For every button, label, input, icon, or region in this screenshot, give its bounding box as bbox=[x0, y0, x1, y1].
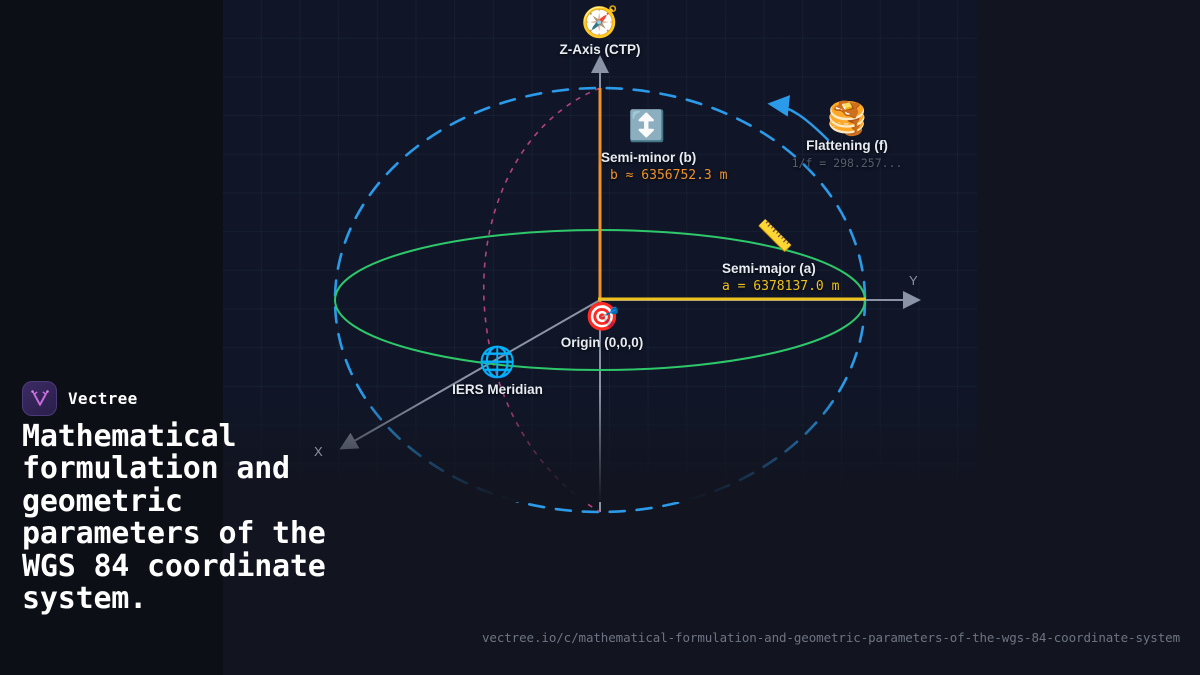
flattening-label: Flattening (f) bbox=[752, 138, 942, 153]
prime-meridian-arc-curve bbox=[484, 88, 600, 512]
semi-minor-value: b ≈ 6356752.3 m bbox=[610, 168, 727, 183]
globe-icon: 🌐 bbox=[440, 348, 555, 378]
footer-url: vectree.io/c/mathematical-formulation-an… bbox=[482, 630, 1180, 645]
vectree-logo-icon bbox=[22, 381, 57, 416]
ruler-icon: 📏 bbox=[756, 222, 839, 252]
annotation-semi-minor: ↕️ Semi-minor (b) b ≈ 6356752.3 m bbox=[601, 112, 727, 183]
compass-icon: 🧭 bbox=[500, 8, 700, 38]
semi-major-value: a = 6378137.0 m bbox=[722, 279, 839, 294]
pancakes-icon: 🥞 bbox=[752, 102, 942, 134]
annotation-flattening: 🥞 Flattening (f) 1/f = 298.257... bbox=[752, 102, 942, 170]
annotation-iers-meridian: 🌐 IERS Meridian bbox=[440, 348, 555, 397]
semi-minor-label: Semi-minor (b) bbox=[601, 150, 727, 165]
slide-root: 🧭 Z-Axis (CTP) ↕️ Semi-minor (b) b ≈ 635… bbox=[0, 0, 1200, 675]
annotation-semi-major: 📏 Semi-major (a) a = 6378137.0 m bbox=[722, 222, 839, 294]
axis-label-y: Y bbox=[909, 273, 918, 288]
brand-block: Vectree bbox=[22, 381, 138, 416]
vectree-fork-glyph bbox=[30, 389, 50, 409]
semi-major-label: Semi-major (a) bbox=[722, 261, 839, 276]
target-icon: 🎯 bbox=[560, 303, 644, 331]
z-axis-label: Z-Axis (CTP) bbox=[560, 42, 641, 57]
page-headline: Mathematical formulation and geometric p… bbox=[22, 421, 362, 615]
annotation-origin: 🎯 Origin (0,0,0) bbox=[560, 303, 644, 350]
up-down-arrow-icon: ↕️ bbox=[628, 112, 727, 142]
flattening-value: 1/f = 298.257... bbox=[752, 156, 942, 170]
annotation-z-axis: 🧭 Z-Axis (CTP) bbox=[500, 8, 700, 59]
origin-label: Origin (0,0,0) bbox=[560, 335, 644, 350]
iers-meridian-label: IERS Meridian bbox=[440, 382, 555, 397]
brand-name-text: Vectree bbox=[68, 389, 138, 408]
